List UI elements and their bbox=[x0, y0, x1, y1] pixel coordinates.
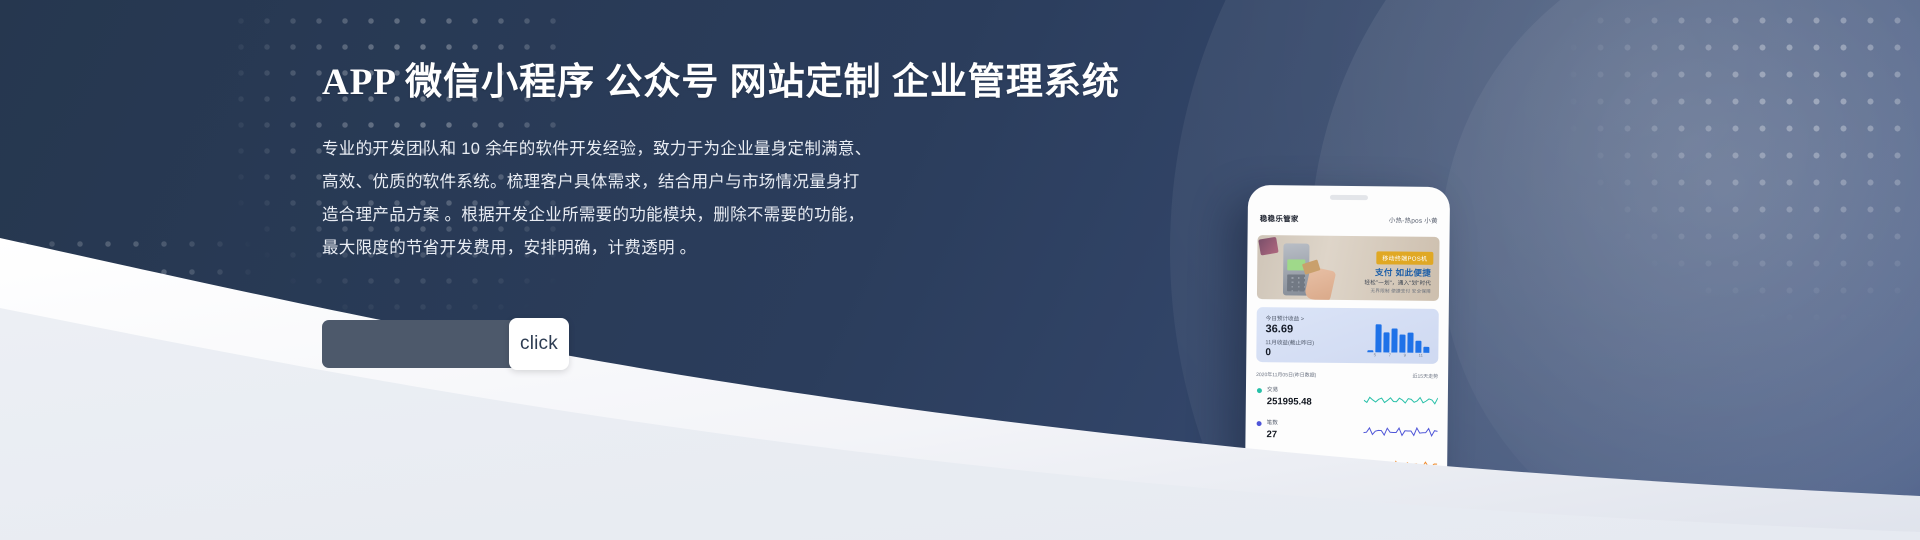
hero-description-line: 专业的开发团队和 10 余年的软件开发经验，致力于为企业量身定制满意、 bbox=[322, 138, 1042, 160]
hero-description-line: 高效、优质的软件系统。梳理客户具体需求，结合用户与市场情况量身打 bbox=[322, 171, 1042, 193]
click-button[interactable]: click bbox=[509, 318, 569, 370]
cta-group: click bbox=[322, 320, 572, 368]
hero-description: 专业的开发团队和 10 余年的软件开发经验，致力于为企业量身定制满意、高效、优质… bbox=[322, 106, 1042, 259]
hero-description-line: 最大限度的节省开发费用，安排明确，计费透明 。 bbox=[322, 237, 1042, 259]
hero-content: APP 微信小程序 公众号 网站定制 企业管理系统 专业的开发团队和 10 余年… bbox=[322, 60, 1042, 270]
page-title: APP 微信小程序 公众号 网站定制 企业管理系统 bbox=[322, 60, 1042, 106]
hero-banner: 稳稳乐管家 小热-热pos 小黄 移动终端POS机 支付 如此便捷 轻松"一划"… bbox=[0, 0, 1920, 540]
search-input[interactable] bbox=[322, 320, 532, 368]
hero-description-line: 造合理产品方案 。根据开发企业所需要的功能模块，删除不需要的功能， bbox=[322, 204, 1042, 226]
